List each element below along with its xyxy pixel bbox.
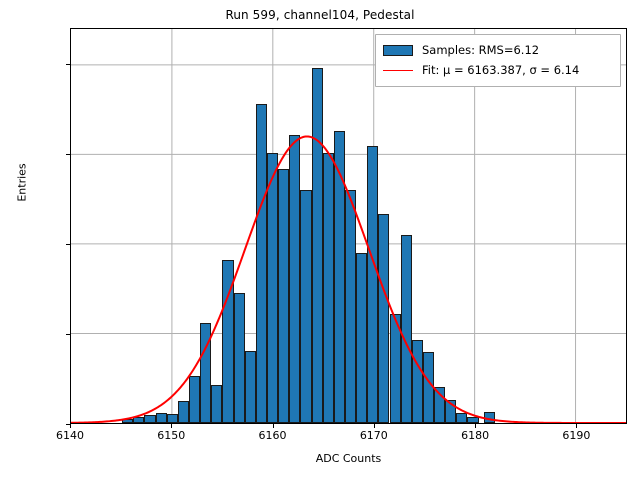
chart-title: Run 599, channel104, Pedestal <box>0 8 640 22</box>
y-tick-mark <box>66 334 70 335</box>
legend-item-samples: Samples: RMS=6.12 <box>383 40 613 60</box>
legend-label-samples: Samples: RMS=6.12 <box>422 43 539 57</box>
y-axis-label: Entries <box>16 123 29 243</box>
legend-line-icon <box>383 70 413 71</box>
x-axis-label: ADC Counts <box>70 452 627 465</box>
plot-area <box>70 28 627 424</box>
x-tick-label: 6150 <box>141 429 201 442</box>
legend-label-fit: Fit: μ = 6163.387, σ = 6.14 <box>422 63 579 77</box>
x-tick-mark <box>576 424 577 428</box>
x-tick-mark <box>475 424 476 428</box>
y-tick-mark <box>66 244 70 245</box>
figure-canvas: Run 599, channel104, Pedestal 0200400600… <box>0 0 640 480</box>
legend-item-fit: Fit: μ = 6163.387, σ = 6.14 <box>383 60 613 80</box>
gaussian-fit-curve <box>71 29 626 423</box>
x-tick-mark <box>273 424 274 428</box>
legend-patch-icon <box>383 45 413 56</box>
x-tick-mark <box>70 424 71 428</box>
chart-legend: Samples: RMS=6.12 Fit: μ = 6163.387, σ =… <box>375 34 621 87</box>
x-tick-label: 6180 <box>445 429 505 442</box>
y-tick-mark <box>66 154 70 155</box>
y-tick-mark <box>66 64 70 65</box>
x-tick-label: 6140 <box>40 429 100 442</box>
x-tick-mark <box>374 424 375 428</box>
x-tick-label: 6160 <box>243 429 303 442</box>
x-tick-mark <box>171 424 172 428</box>
x-tick-label: 6190 <box>546 429 606 442</box>
x-tick-label: 6170 <box>344 429 404 442</box>
